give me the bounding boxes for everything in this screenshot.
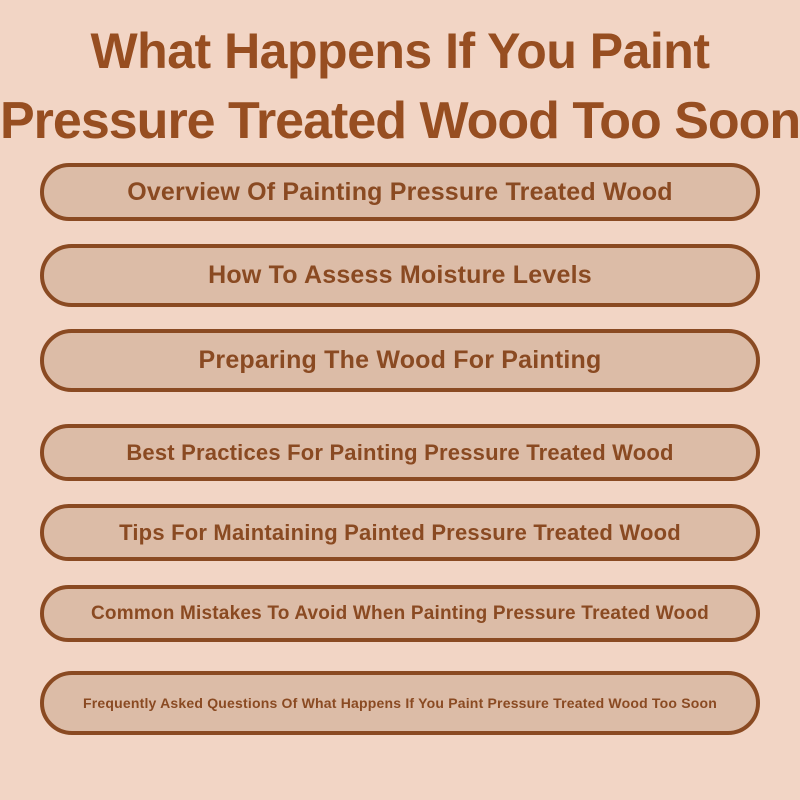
toc-item-label: Overview Of Painting Pressure Treated Wo… <box>113 178 687 207</box>
toc-item-label: Frequently Asked Questions Of What Happe… <box>69 695 731 711</box>
infographic-root: What Happens If You Paint Pressure Treat… <box>0 0 800 800</box>
page-title: What Happens If You Paint Pressure Treat… <box>0 16 800 156</box>
toc-item-best-practices[interactable]: Best Practices For Painting Pressure Tre… <box>40 424 760 481</box>
toc-item-label: Best Practices For Painting Pressure Tre… <box>112 440 687 466</box>
toc-item-overview[interactable]: Overview Of Painting Pressure Treated Wo… <box>40 163 760 221</box>
page-title-line-1: What Happens If You Paint <box>0 16 800 86</box>
toc-item-label: Preparing The Wood For Painting <box>185 346 616 375</box>
toc-item-common-mistakes[interactable]: Common Mistakes To Avoid When Painting P… <box>40 585 760 642</box>
page-title-line-2: Pressure Treated Wood Too Soon <box>0 86 800 156</box>
toc-item-label: How To Assess Moisture Levels <box>194 261 606 290</box>
toc-item-label: Tips For Maintaining Painted Pressure Tr… <box>105 520 695 546</box>
toc-item-preparing-wood[interactable]: Preparing The Wood For Painting <box>40 329 760 392</box>
toc-item-maintaining-tips[interactable]: Tips For Maintaining Painted Pressure Tr… <box>40 504 760 561</box>
toc-item-faq[interactable]: Frequently Asked Questions Of What Happe… <box>40 671 760 735</box>
toc-item-moisture-levels[interactable]: How To Assess Moisture Levels <box>40 244 760 307</box>
table-of-contents-list: Overview Of Painting Pressure Treated Wo… <box>40 163 760 735</box>
toc-item-label: Common Mistakes To Avoid When Painting P… <box>77 603 723 625</box>
